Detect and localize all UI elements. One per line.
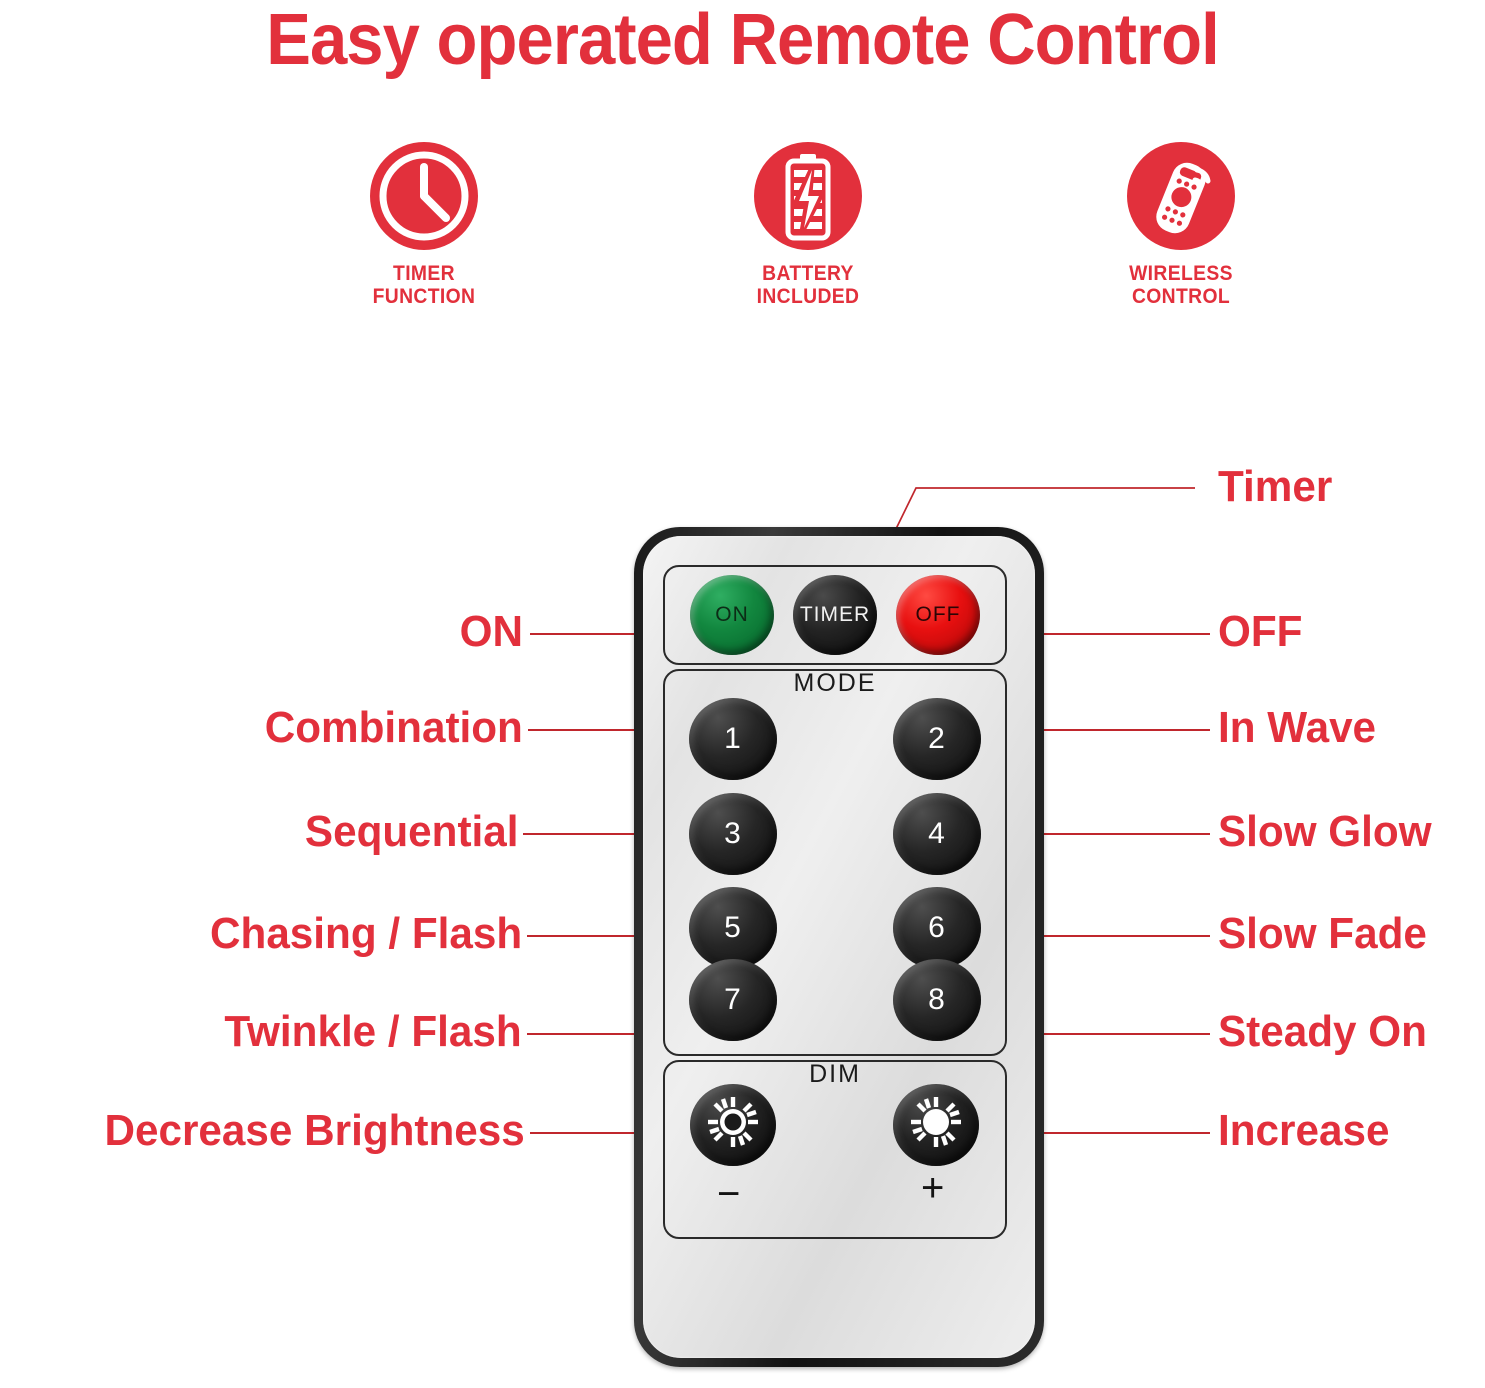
callout-off: OFF	[1218, 609, 1302, 655]
callout-mode-6: Slow Fade	[1218, 911, 1427, 957]
callout-mode-1: Combination	[265, 705, 523, 751]
mode-button-7[interactable]: 7	[689, 959, 777, 1041]
battery-icon	[752, 140, 864, 252]
sun-dim-icon	[705, 1094, 761, 1156]
dim-decrease-button[interactable]	[690, 1084, 776, 1166]
remote-control-device: ON TIMER OFF MODE 1 2 3 4	[634, 527, 1044, 1367]
mode-button-2-label: 2	[928, 722, 946, 756]
mode-button-6[interactable]: 6	[893, 887, 981, 969]
on-button[interactable]: ON	[690, 575, 774, 655]
mode-button-8-label: 8	[928, 983, 946, 1017]
feature-label-line2: FUNCTION	[286, 285, 562, 308]
dim-increase-button[interactable]	[893, 1084, 979, 1166]
mode-button-1-label: 1	[724, 722, 742, 756]
sun-bright-icon	[908, 1094, 964, 1156]
callout-on: ON	[460, 609, 523, 655]
feature-label-line1: BATTERY	[670, 262, 946, 285]
infographic-canvas: Easy operated Remote Control TIMER FUNCT…	[0, 0, 1485, 1388]
feature-wireless-control: WIRELESS CONTROL	[1031, 140, 1331, 308]
mode-button-6-label: 6	[928, 911, 946, 945]
mode-button-4-label: 4	[928, 817, 946, 851]
callout-mode-8: Steady On	[1218, 1009, 1427, 1055]
feature-label-line2: INCLUDED	[670, 285, 946, 308]
mode-button-group: MODE 1 2 3 4 5 6 7 8	[663, 669, 1007, 1056]
feature-label-line2: CONTROL	[1043, 285, 1319, 308]
mode-button-3[interactable]: 3	[689, 793, 777, 875]
dim-minus-symbol: −	[717, 1174, 740, 1214]
callout-mode-5: Chasing / Flash	[210, 911, 522, 957]
feature-timer-function: TIMER FUNCTION	[274, 140, 574, 308]
mode-button-8[interactable]: 8	[893, 959, 981, 1041]
mode-button-1[interactable]: 1	[689, 698, 777, 780]
mode-button-7-label: 7	[724, 983, 742, 1017]
callout-mode-7: Twinkle / Flash	[225, 1009, 522, 1055]
power-button-group: ON TIMER OFF	[663, 565, 1007, 665]
page-title: Easy operated Remote Control	[52, 2, 1433, 78]
off-button[interactable]: OFF	[896, 575, 980, 655]
callout-mode-3: Sequential	[304, 809, 518, 855]
mode-group-label: MODE	[665, 669, 1005, 698]
dim-button-group: DIM	[663, 1060, 1007, 1239]
callout-mode-2: In Wave	[1218, 705, 1376, 751]
mode-button-5[interactable]: 5	[689, 887, 777, 969]
mode-button-3-label: 3	[724, 817, 742, 851]
dim-group-label: DIM	[665, 1060, 1005, 1089]
mode-button-5-label: 5	[724, 911, 742, 945]
on-button-label: ON	[715, 603, 749, 627]
timer-button-label: TIMER	[800, 603, 870, 627]
remote-signal-icon	[1125, 140, 1237, 252]
callout-dim-up: Increase	[1218, 1108, 1389, 1154]
feature-label-line1: WIRELESS	[1043, 262, 1319, 285]
feature-label-line1: TIMER	[286, 262, 562, 285]
remote-face: ON TIMER OFF MODE 1 2 3 4	[643, 536, 1035, 1358]
feature-battery-included: BATTERY INCLUDED	[658, 140, 958, 308]
off-button-label: OFF	[916, 603, 961, 627]
mode-button-2[interactable]: 2	[893, 698, 981, 780]
callout-mode-4: Slow Glow	[1218, 809, 1432, 855]
mode-button-4[interactable]: 4	[893, 793, 981, 875]
callout-timer: Timer	[1218, 464, 1332, 510]
callout-dim-down: Decrease Brightness	[105, 1108, 525, 1154]
timer-button[interactable]: TIMER	[793, 575, 877, 655]
clock-icon	[368, 140, 480, 252]
dim-plus-symbol: +	[921, 1168, 944, 1208]
